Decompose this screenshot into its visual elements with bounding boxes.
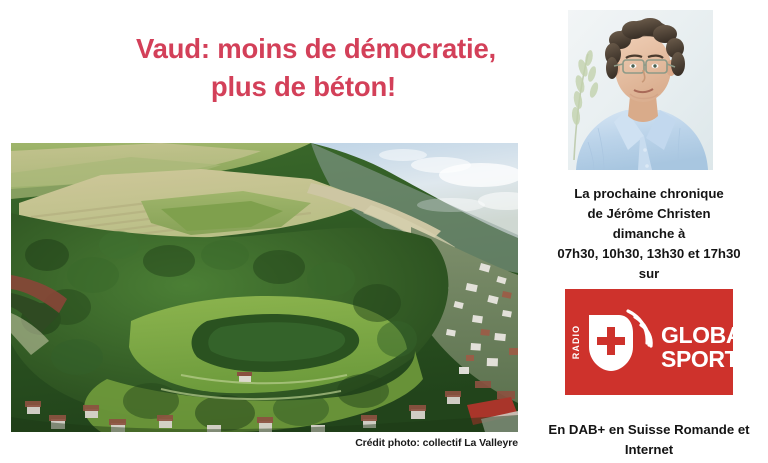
footer-line-2: Internet www.globalsport.ch bbox=[530, 440, 768, 463]
promo-slide: Vaud: moins de démocratie, plus de béton… bbox=[0, 0, 768, 463]
broadcast-info: En DAB+ en Suisse Romande et Internet ww… bbox=[530, 420, 768, 463]
radio-global-sport-logo[interactable]: RADIO GLOBAL SPORT bbox=[565, 289, 733, 395]
aerial-photo bbox=[11, 143, 518, 432]
swiss-cross-shield-icon bbox=[589, 315, 633, 371]
headline-line-2: plus de béton! bbox=[14, 68, 496, 106]
schedule-line-2: de Jérôme Christen bbox=[530, 204, 768, 224]
schedule-line-1: La prochaine chronique bbox=[530, 184, 768, 204]
footer-line-1: En DAB+ en Suisse Romande et bbox=[530, 420, 768, 440]
headline-line-1: Vaud: moins de démocratie, bbox=[14, 30, 496, 68]
logo-wordmark-sport: SPORT bbox=[661, 346, 733, 372]
schedule-line-4: 07h30, 10h30, 13h30 et 17h30 bbox=[530, 244, 768, 264]
schedule-text: La prochaine chronique de Jérôme Christe… bbox=[530, 184, 768, 284]
schedule-line-5: sur bbox=[530, 264, 768, 284]
photo-credit: Crédit photo: collectif La Valleyre bbox=[248, 437, 518, 449]
page-title: Vaud: moins de démocratie, plus de béton… bbox=[14, 30, 496, 106]
avatar bbox=[568, 10, 713, 170]
footer-internet-label: Internet bbox=[530, 440, 768, 460]
logo-wordmark-global: GLOBAL bbox=[661, 322, 733, 348]
schedule-line-3: dimanche à bbox=[530, 224, 768, 244]
logo-radio-label: RADIO bbox=[571, 325, 581, 360]
website-link[interactable]: www.globalsport.ch bbox=[530, 460, 768, 463]
